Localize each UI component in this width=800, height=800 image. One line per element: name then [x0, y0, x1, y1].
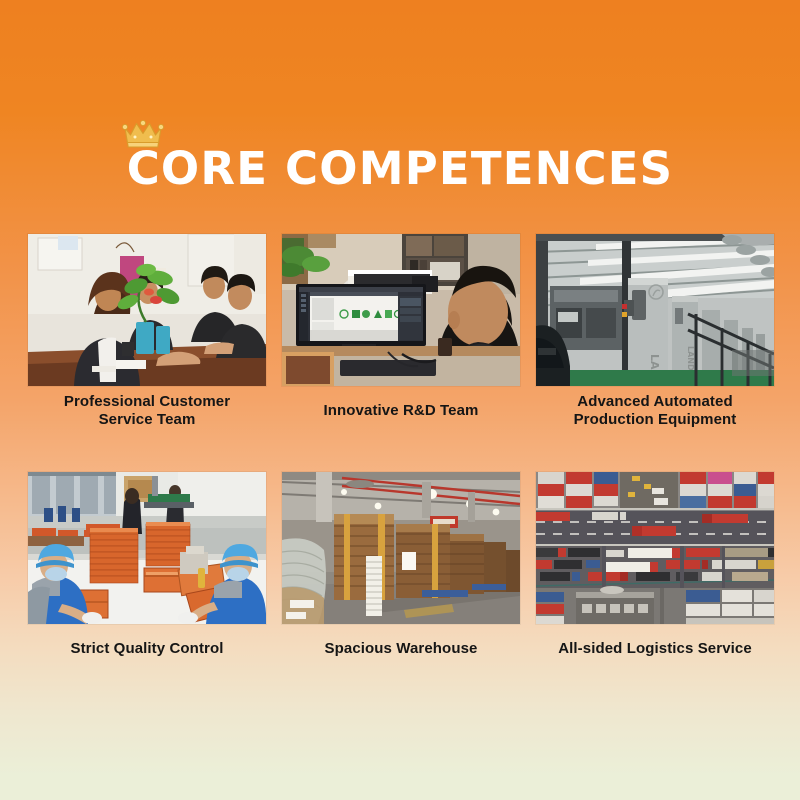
grid-row-bottom: Strict Quality Control [28, 472, 774, 658]
quality-control-illustration [28, 472, 266, 624]
caption-line-1: All-sided Logistics Service [536, 640, 774, 658]
card-caption: Strict Quality Control [28, 631, 266, 658]
card-caption: Advanced Automated Production Equipment [536, 393, 774, 430]
caption-line-1: Innovative R&D Team [282, 402, 520, 420]
card-image-rd-workstation[interactable] [282, 234, 520, 386]
page-title: CORE COMPETENCES [127, 146, 674, 191]
card-image-logistics-port[interactable] [536, 472, 774, 624]
caption-line-1: Spacious Warehouse [282, 640, 520, 658]
card-image-printing-press[interactable]: LAND 800 LAND 800 [536, 234, 774, 386]
poster-root: CORE COMPETENCES [0, 0, 800, 800]
caption-line-2: Production Equipment [536, 411, 774, 429]
logistics-port-illustration [536, 472, 774, 624]
pallet-stack-a [334, 514, 394, 600]
card-caption: Innovative R&D Team [282, 393, 520, 420]
card-innovative-rd-team[interactable]: Innovative R&D Team [282, 234, 520, 430]
card-caption: Professional Customer Service Team [28, 393, 266, 430]
card-image-warehouse[interactable] [282, 472, 520, 624]
card-professional-customer-service-team[interactable]: Professional Customer Service Team [28, 234, 266, 430]
rd-workstation-illustration [282, 234, 520, 386]
card-strict-quality-control[interactable]: Strict Quality Control [28, 472, 266, 658]
meeting-room-illustration [28, 234, 266, 386]
caption-line-1: Advanced Automated [536, 393, 774, 411]
warehouse-illustration [282, 472, 520, 624]
card-advanced-automated-production-equipment[interactable]: LAND 800 LAND 800 [536, 234, 774, 430]
title-wrap: CORE COMPETENCES [127, 146, 674, 191]
printing-press-illustration: LAND 800 LAND 800 [536, 234, 774, 386]
wrapped-pallet-front [282, 538, 326, 624]
card-caption: Spacious Warehouse [282, 631, 520, 658]
caption-line-1: Professional Customer [28, 393, 266, 411]
card-spacious-warehouse[interactable]: Spacious Warehouse [282, 472, 520, 658]
card-image-quality-control[interactable] [28, 472, 266, 624]
crown-icon [121, 116, 165, 150]
card-caption: All-sided Logistics Service [536, 631, 774, 658]
page-header: CORE COMPETENCES [0, 146, 800, 191]
grid-row-top: Professional Customer Service Team [28, 234, 774, 430]
competence-grid: Professional Customer Service Team [28, 234, 774, 658]
card-image-meeting-room[interactable] [28, 234, 266, 386]
caption-line-2: Service Team [28, 411, 266, 429]
caption-line-1: Strict Quality Control [28, 640, 266, 658]
card-all-sided-logistics-service[interactable]: All-sided Logistics Service [536, 472, 774, 658]
